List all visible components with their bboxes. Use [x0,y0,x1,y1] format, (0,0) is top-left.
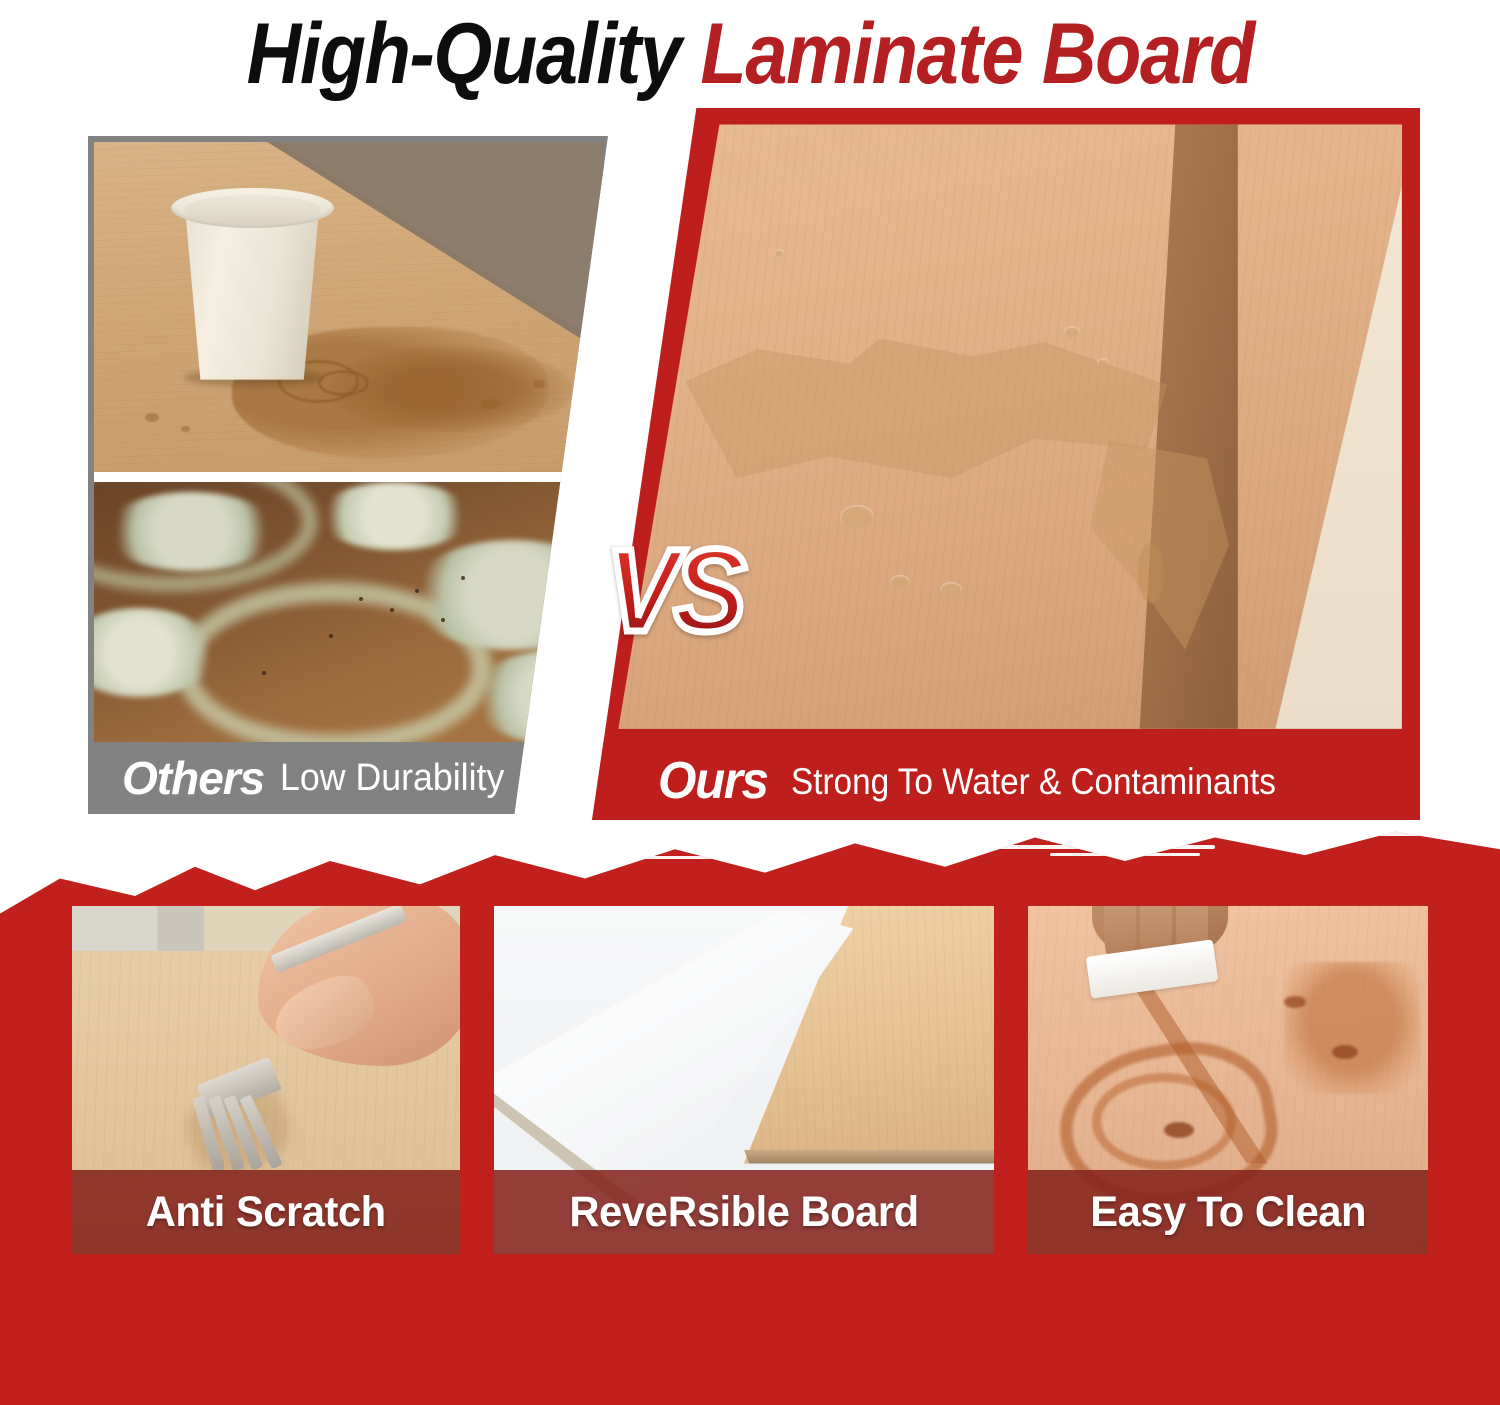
others-label-description: Low Durability [280,759,504,797]
water-bead [1064,326,1080,338]
brush-streak [690,836,900,840]
cup-interior [184,195,321,224]
mold-patch [104,492,277,571]
wood-panel-edge [744,1150,994,1164]
water-bead [840,505,874,529]
feature-caption: ReveRsible Board [569,1188,918,1237]
sauce-chunk [1164,1122,1194,1138]
brush-streak [1050,853,1200,856]
brush-streak [45,834,285,838]
caption-prefix: Reve [569,1188,667,1236]
mold-spore [329,634,333,638]
feature-card-reversible-board[interactable]: ReveRsible Board [488,900,1000,1260]
feature-caption-bar: Anti Scratch [72,1170,460,1254]
others-panel: Others Low Durability [88,136,608,814]
brush-streak [1245,832,1440,836]
feature-caption-bar: Easy To Clean [1028,1170,1428,1254]
mold-spore [390,608,394,612]
comparison-section: Others Low Durability [0,108,1500,820]
feature-caption-bar: ReveRsible Board [494,1170,994,1254]
water-drip [1138,543,1164,603]
image-divider [94,472,604,482]
headline: High-Quality Laminate Board [0,0,1500,108]
feature-card-easy-to-clean[interactable]: Easy To Clean [1022,900,1434,1260]
caption-suffix: sible Board [697,1188,919,1236]
sauce-stain-right [1284,962,1420,1094]
cup-body [180,203,324,379]
headline-text: High-Quality Laminate Board [246,11,1253,97]
headline-part-black: High-Quality [246,6,680,102]
mold-growth-photo [94,482,604,744]
mold-patch [410,540,604,650]
ours-panel: Ours Strong To Water & Contaminants [592,108,1420,820]
mold-patch [318,482,471,550]
others-label-strong: Others [122,755,264,801]
brush-streak [930,845,1215,849]
mold-spore [262,671,266,675]
water-bead [774,249,784,257]
feature-card-anti-scratch[interactable]: Anti Scratch [66,900,466,1260]
feature-caption: Easy To Clean [1090,1188,1366,1237]
feature-cards: Anti Scratch ReveRsible Board [0,900,1500,1260]
headline-part-red: Laminate Board [700,6,1253,102]
others-image-stack [94,142,608,742]
ours-label-description: Strong To Water & Contaminants [791,763,1276,800]
water-bead [940,582,962,597]
paper-cup-spill-photo [94,142,604,472]
spill-droplet [145,413,159,422]
feature-caption: Anti Scratch [146,1188,386,1237]
mirrored-r-glyph: R [668,1188,697,1237]
spill-droplet [181,426,190,432]
spill-droplet [533,380,545,388]
others-label-bar: Others Low Durability [94,742,608,814]
paper-cup [171,188,334,379]
ours-label-bar: Ours Strong To Water & Contaminants [592,742,1420,820]
product-infographic: High-Quality Laminate Board [0,0,1500,1405]
brush-streak [570,856,750,859]
vs-badge: VS [606,532,742,650]
water-bead [1097,358,1109,367]
ours-label-strong: Ours [658,755,768,807]
brush-streak [330,842,645,846]
brush-streak [150,854,285,857]
